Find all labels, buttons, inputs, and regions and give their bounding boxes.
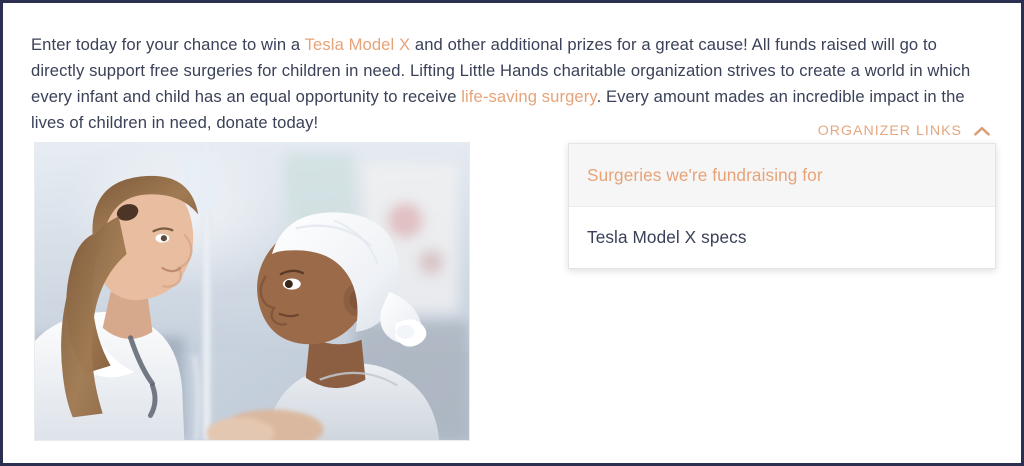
page-frame: Enter today for your chance to win a Tes…: [0, 0, 1024, 466]
organizer-links-toggle[interactable]: ORGANIZER LINKS: [818, 123, 991, 139]
organizer-link-item-tesla-specs[interactable]: Tesla Model X specs: [569, 206, 995, 268]
intro-paragraph: Enter today for your chance to win a Tes…: [31, 32, 986, 136]
organizer-link-item-surgeries[interactable]: Surgeries we're fundraising for: [569, 144, 995, 206]
organizer-links-label: ORGANIZER LINKS: [818, 123, 962, 139]
organizer-link-item-label: Tesla Model X specs: [587, 227, 747, 248]
chevron-up-icon[interactable]: [973, 124, 991, 138]
page-content: Enter today for your chance to win a Tes…: [3, 3, 1021, 463]
organizer-links-panel: Surgeries we're fundraising for Tesla Mo…: [568, 143, 996, 269]
tesla-model-x-link[interactable]: Tesla Model X: [305, 35, 411, 54]
campaign-photo-image: [35, 143, 469, 440]
life-saving-surgery-link[interactable]: life-saving surgery: [461, 87, 596, 106]
intro-text-segment-1: Enter today for your chance to win a: [31, 35, 305, 54]
campaign-photo: [34, 142, 470, 441]
organizer-link-item-label: Surgeries we're fundraising for: [587, 165, 823, 186]
